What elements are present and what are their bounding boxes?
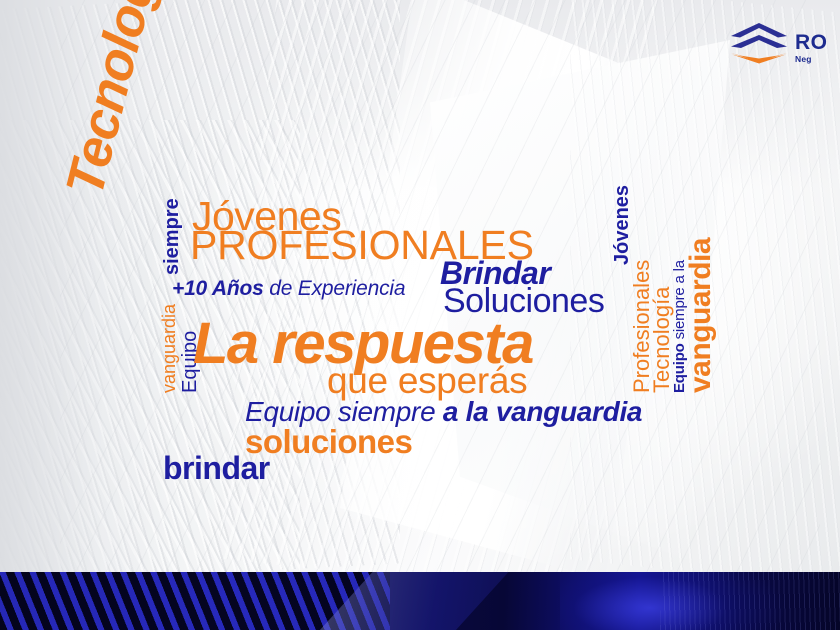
word-experiencia-line: +10 Años de Experiencia [172,278,405,299]
word-brindar-low: brindar [163,452,270,484]
word-siempre-vertical: siempre [162,198,182,275]
word-soluciones-mid: soluciones [245,425,412,458]
word-equipo-vanguardia-line: Equipo siempre a la vanguardia [245,398,642,426]
word-tecnologia-vertical: Tecnología [651,287,673,393]
slide-canvas: RO Neg Tecnología siempre Jóvenes PROFES… [0,0,840,630]
word-experiencia-rest: de Experiencia [264,277,406,300]
word-vanguardia-left-vertical: vanguardia [160,304,178,393]
word-jovenes-vertical: Jóvenes [612,185,632,265]
word-experiencia-strong: +10 Años [172,277,264,300]
bottom-accent-band [0,572,840,630]
word-tecnologia-left: Tecnología [58,0,174,201]
word-a-la-vanguardia: a la vanguardia [443,396,642,427]
word-cloud: Tecnología siempre Jóvenes PROFESIONALES… [0,0,840,630]
word-que-esperas: que esperás [327,362,527,399]
band-glow-right [660,572,840,630]
word-vanguardia-vertical: vanguardia [686,238,716,393]
